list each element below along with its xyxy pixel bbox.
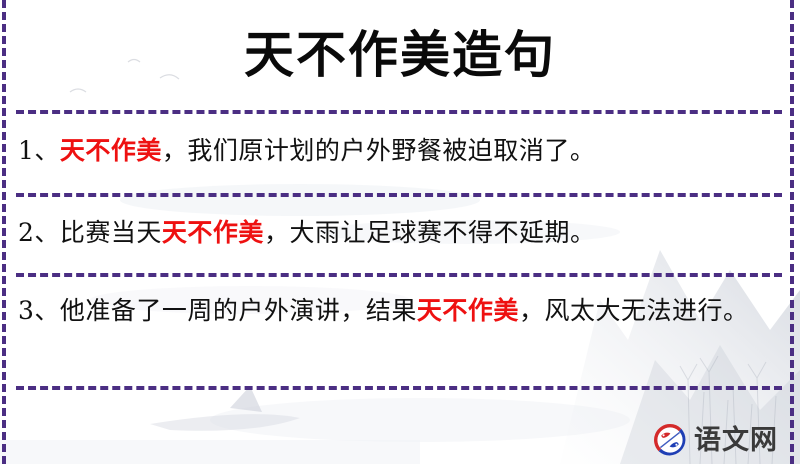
sentence-text-after: ，我们原计划的户外野餐被迫取消了。 bbox=[162, 136, 596, 165]
idiom-highlight: 天不作美 bbox=[417, 296, 519, 325]
title-area: 天不作美造句 bbox=[0, 0, 800, 110]
frame-border-left bbox=[2, 0, 6, 464]
yinyang-fish-icon bbox=[652, 422, 688, 458]
sentence-number: 2、 bbox=[18, 218, 60, 247]
site-logo-text: 语文网 bbox=[694, 427, 778, 454]
sentence-row: 2、比赛当天天不作美，大雨让足球赛不得不延期。 bbox=[18, 212, 776, 254]
divider-after-sentence-3 bbox=[16, 386, 782, 390]
idiom-highlight: 天不作美 bbox=[162, 218, 264, 247]
divider-after-sentence-1 bbox=[16, 193, 782, 197]
worksheet-page: 天不作美造句 1、天不作美，我们原计划的户外野餐被迫取消了。 2、比赛当天天不作… bbox=[0, 0, 800, 464]
sentence-number: 1、 bbox=[18, 136, 60, 165]
sentence-text-after: ，风太大无法进行。 bbox=[519, 296, 749, 325]
sentence-row: 1、天不作美，我们原计划的户外野餐被迫取消了。 bbox=[18, 130, 776, 172]
site-logo[interactable]: 语文网 bbox=[652, 422, 778, 458]
sentence-text-before: 他准备了一周的户外演讲，结果 bbox=[60, 296, 417, 325]
page-title: 天不作美造句 bbox=[244, 30, 556, 80]
sentence-row: 3、他准备了一周的户外演讲，结果天不作美，风太大无法进行。 bbox=[18, 290, 776, 332]
divider-below-title bbox=[16, 110, 782, 114]
sentence-text-before: 比赛当天 bbox=[60, 218, 162, 247]
idiom-highlight: 天不作美 bbox=[60, 136, 162, 165]
divider-after-sentence-2 bbox=[16, 273, 782, 277]
sentence-number: 3、 bbox=[18, 296, 60, 325]
sentence-text-after: ，大雨让足球赛不得不延期。 bbox=[264, 218, 596, 247]
frame-border-right bbox=[790, 0, 794, 464]
